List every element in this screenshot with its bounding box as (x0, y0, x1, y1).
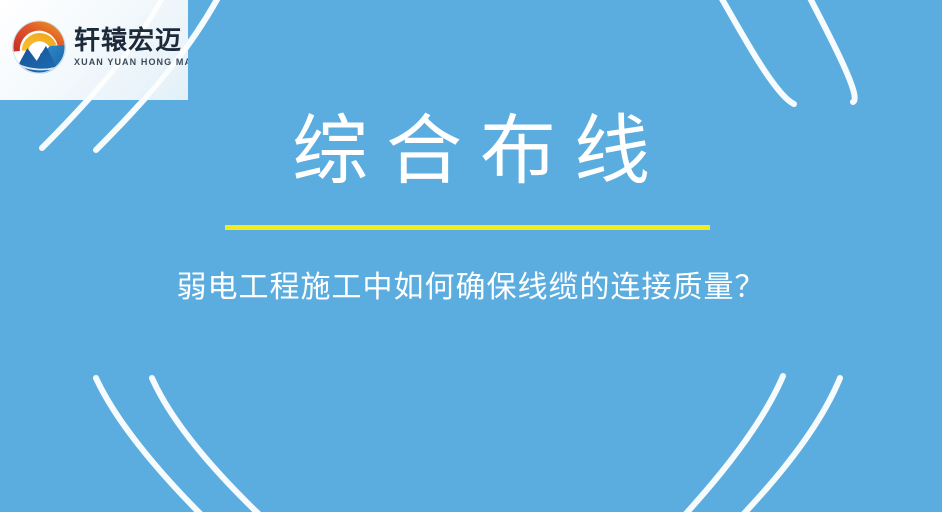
logo-wordmark: 轩辕宏迈 XUAN YUAN HONG MAI (74, 28, 188, 67)
logo-plate: 轩辕宏迈 XUAN YUAN HONG MAI (0, 0, 188, 100)
slide-canvas: 轩辕宏迈 XUAN YUAN HONG MAI 综合布线 弱电工程施工中如何确保… (0, 0, 942, 512)
logo-name-en: XUAN YUAN HONG MAI (74, 58, 188, 67)
page-title: 综合布线 (0, 103, 942, 199)
logo-lockup[interactable]: 轩辕宏迈 XUAN YUAN HONG MAI (10, 18, 188, 76)
title-divider (225, 225, 710, 230)
logo-name-cn: 轩辕宏迈 (74, 28, 188, 54)
page-subtitle: 弱电工程施工中如何确保线缆的连接质量？ (0, 266, 942, 310)
logo-emblem-icon (10, 18, 68, 76)
